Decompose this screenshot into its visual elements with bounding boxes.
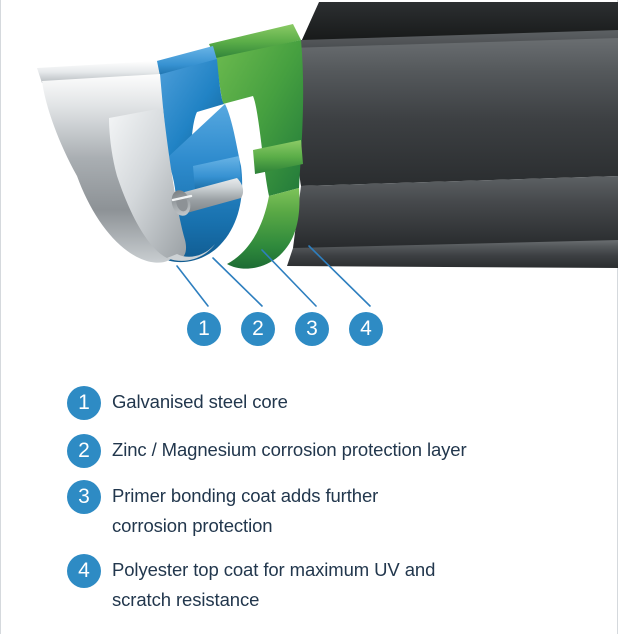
page-root: 1 2 3 4 1 Galvanised steel core 2 Zinc /… [0,0,618,634]
legend-item-4[interactable]: 4 Polyester top coat for maximum UV and … [67,554,435,615]
layer-polyester-topcoat [287,2,618,268]
legend-item-3[interactable]: 3 Primer bonding coat adds further corro… [67,480,378,541]
callout-badge-1[interactable]: 1 [187,312,221,346]
legend-badge-3: 3 [67,480,101,514]
legend-label-1: Galvanised steel core [112,386,288,417]
legend-item-2[interactable]: 2 Zinc / Magnesium corrosion protection … [67,434,467,468]
legend-badge-4: 4 [67,554,101,588]
legend-badge-2: 2 [67,434,101,468]
legend-label-3: Primer bonding coat adds further corrosi… [112,480,378,541]
legend-label-2: Zinc / Magnesium corrosion protection la… [112,434,467,465]
legend-list: 1 Galvanised steel core 2 Zinc / Magnesi… [1,372,618,634]
legend-label-4: Polyester top coat for maximum UV and sc… [112,554,435,615]
pipe-cutaway-illustration: 1 2 3 4 [1,0,618,368]
callout-badge-4[interactable]: 4 [349,312,383,346]
callout-badge-2[interactable]: 2 [241,312,275,346]
legend-item-1[interactable]: 1 Galvanised steel core [67,386,288,420]
callout-badge-3[interactable]: 3 [295,312,329,346]
leader-line-1 [177,266,208,306]
legend-badge-1: 1 [67,386,101,420]
